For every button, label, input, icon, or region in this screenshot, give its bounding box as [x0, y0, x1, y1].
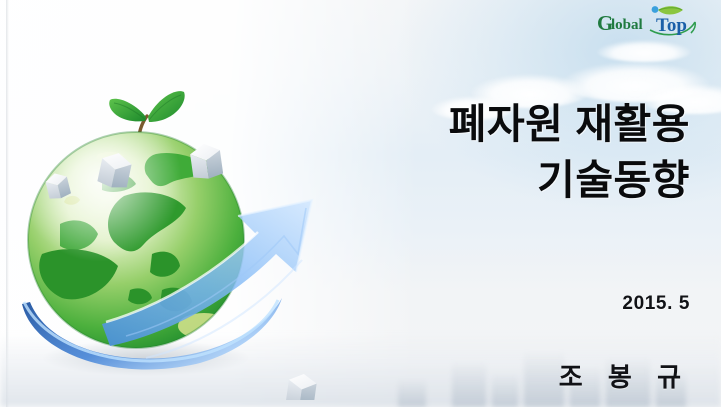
sprout-leaf-left — [109, 99, 146, 122]
title-line-1: 폐자원 재활용 — [360, 96, 690, 152]
globe-artwork — [6, 58, 358, 400]
building-silhouette — [398, 379, 426, 407]
slide-author: 조 봉 규 — [559, 357, 690, 394]
title-slide: G lobal Top 폐자원 재활용 기술동향 2015. 5 조 봉 규 — [0, 0, 721, 407]
building-silhouette — [452, 361, 486, 407]
slide-date: 2015. 5 — [622, 293, 690, 315]
building-silhouette — [492, 373, 518, 407]
global-top-logo: G lobal Top — [595, 4, 703, 40]
logo-dot-icon — [652, 6, 659, 13]
cloud-shape — [596, 40, 692, 62]
floating-cube — [357, 340, 358, 371]
slide-title: 폐자원 재활용 기술동향 — [360, 96, 690, 208]
floating-cube — [285, 372, 317, 400]
floating-cube — [189, 142, 224, 181]
title-line-2: 기술동향 — [360, 152, 690, 208]
svg-text:lobal: lobal — [611, 17, 643, 33]
svg-text:Top: Top — [656, 15, 687, 36]
